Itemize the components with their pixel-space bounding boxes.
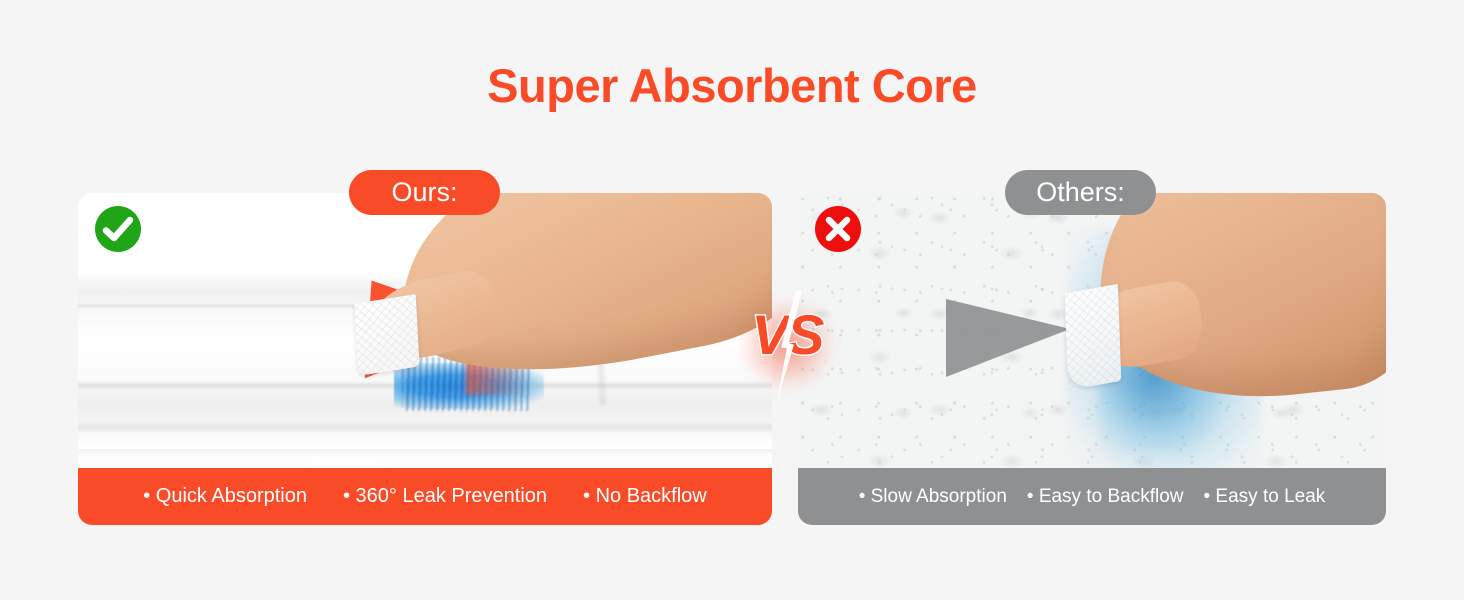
tissue-texture xyxy=(1065,284,1122,390)
gray-pointer-cone xyxy=(946,299,1070,377)
ours-label-badge: Ours: xyxy=(349,170,500,215)
ours-panel: • Quick Absorption • 360° Leak Preventio… xyxy=(78,193,772,525)
others-label-badge: Others: xyxy=(1005,170,1156,215)
ours-feature-bar: • Quick Absorption • 360° Leak Preventio… xyxy=(78,468,772,525)
others-panel: • Slow Absorption • Easy to Backflow • E… xyxy=(798,193,1386,525)
vs-badge: VS VS xyxy=(736,288,838,404)
tissue-texture xyxy=(354,294,419,376)
ours-feature-item: • 360° Leak Prevention xyxy=(343,485,547,508)
others-feature-item: • Slow Absorption xyxy=(859,486,1007,508)
ours-magnified-inset xyxy=(232,458,462,468)
diaper-crease xyxy=(78,425,772,430)
others-product-photo xyxy=(798,193,1386,468)
others-feature-item: • Easy to Leak xyxy=(1204,486,1326,508)
others-feature-item: • Easy to Backflow xyxy=(1027,486,1184,508)
page-title: Super Absorbent Core xyxy=(0,58,1464,113)
others-feature-bar: • Slow Absorption • Easy to Backflow • E… xyxy=(798,468,1386,525)
test-tissue xyxy=(354,294,419,376)
ours-feature-item: • Quick Absorption xyxy=(143,485,307,508)
test-tissue xyxy=(1065,284,1122,390)
cross-circle-icon xyxy=(815,206,861,252)
ours-product-photo xyxy=(78,193,772,468)
check-circle-icon xyxy=(95,206,141,252)
ours-feature-item: • No Backflow xyxy=(583,485,707,508)
